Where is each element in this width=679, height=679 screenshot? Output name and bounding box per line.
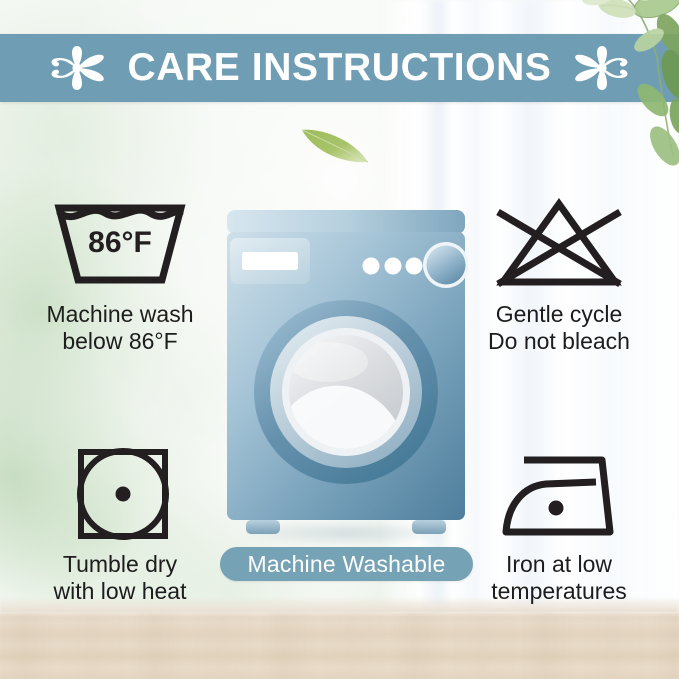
- wash-temperature-value: 86°F: [88, 226, 152, 259]
- triangle-crossed-out-icon: [484, 196, 634, 292]
- care-item-label: Machine wash below 86°F: [46, 301, 193, 355]
- care-item-label: Gentle cycle Do not bleach: [488, 301, 630, 355]
- badge-label: Machine Washable: [248, 551, 446, 578]
- care-item-label: Tumble dry with low heat: [54, 551, 187, 605]
- washing-machine-illustration: [224, 202, 468, 547]
- washing-machine-graphic: [224, 202, 468, 547]
- care-item-iron-low: Iron at low temperatures: [444, 446, 674, 605]
- floating-leaf-icon: [296, 118, 374, 172]
- leaf-cluster-decoration: [553, 0, 679, 168]
- wash-tub-icon: 86°F: [45, 196, 195, 292]
- fleur-de-lis-icon: [49, 45, 105, 91]
- machine-washable-badge: Machine Washable: [220, 547, 473, 581]
- indicator-light: [406, 258, 423, 275]
- tumble-dry-low-icon: [45, 446, 195, 542]
- wooden-table-surface: [0, 613, 679, 679]
- machine-shadow: [238, 520, 454, 546]
- care-item-machine-wash: 86°F Machine wash below 86°F: [5, 196, 235, 355]
- care-instructions-infographic: CARE INSTRUCTIONS: [0, 0, 679, 679]
- care-item-label: Iron at low temperatures: [491, 551, 627, 605]
- indicator-light: [385, 258, 402, 275]
- iron-one-dot-icon: [484, 446, 634, 542]
- care-item-do-not-bleach: Gentle cycle Do not bleach: [444, 196, 674, 355]
- control-dial-knob: [427, 246, 466, 285]
- page-title: CARE INSTRUCTIONS: [127, 46, 551, 90]
- indicator-light: [363, 258, 380, 275]
- care-item-tumble-dry: Tumble dry with low heat: [5, 446, 235, 605]
